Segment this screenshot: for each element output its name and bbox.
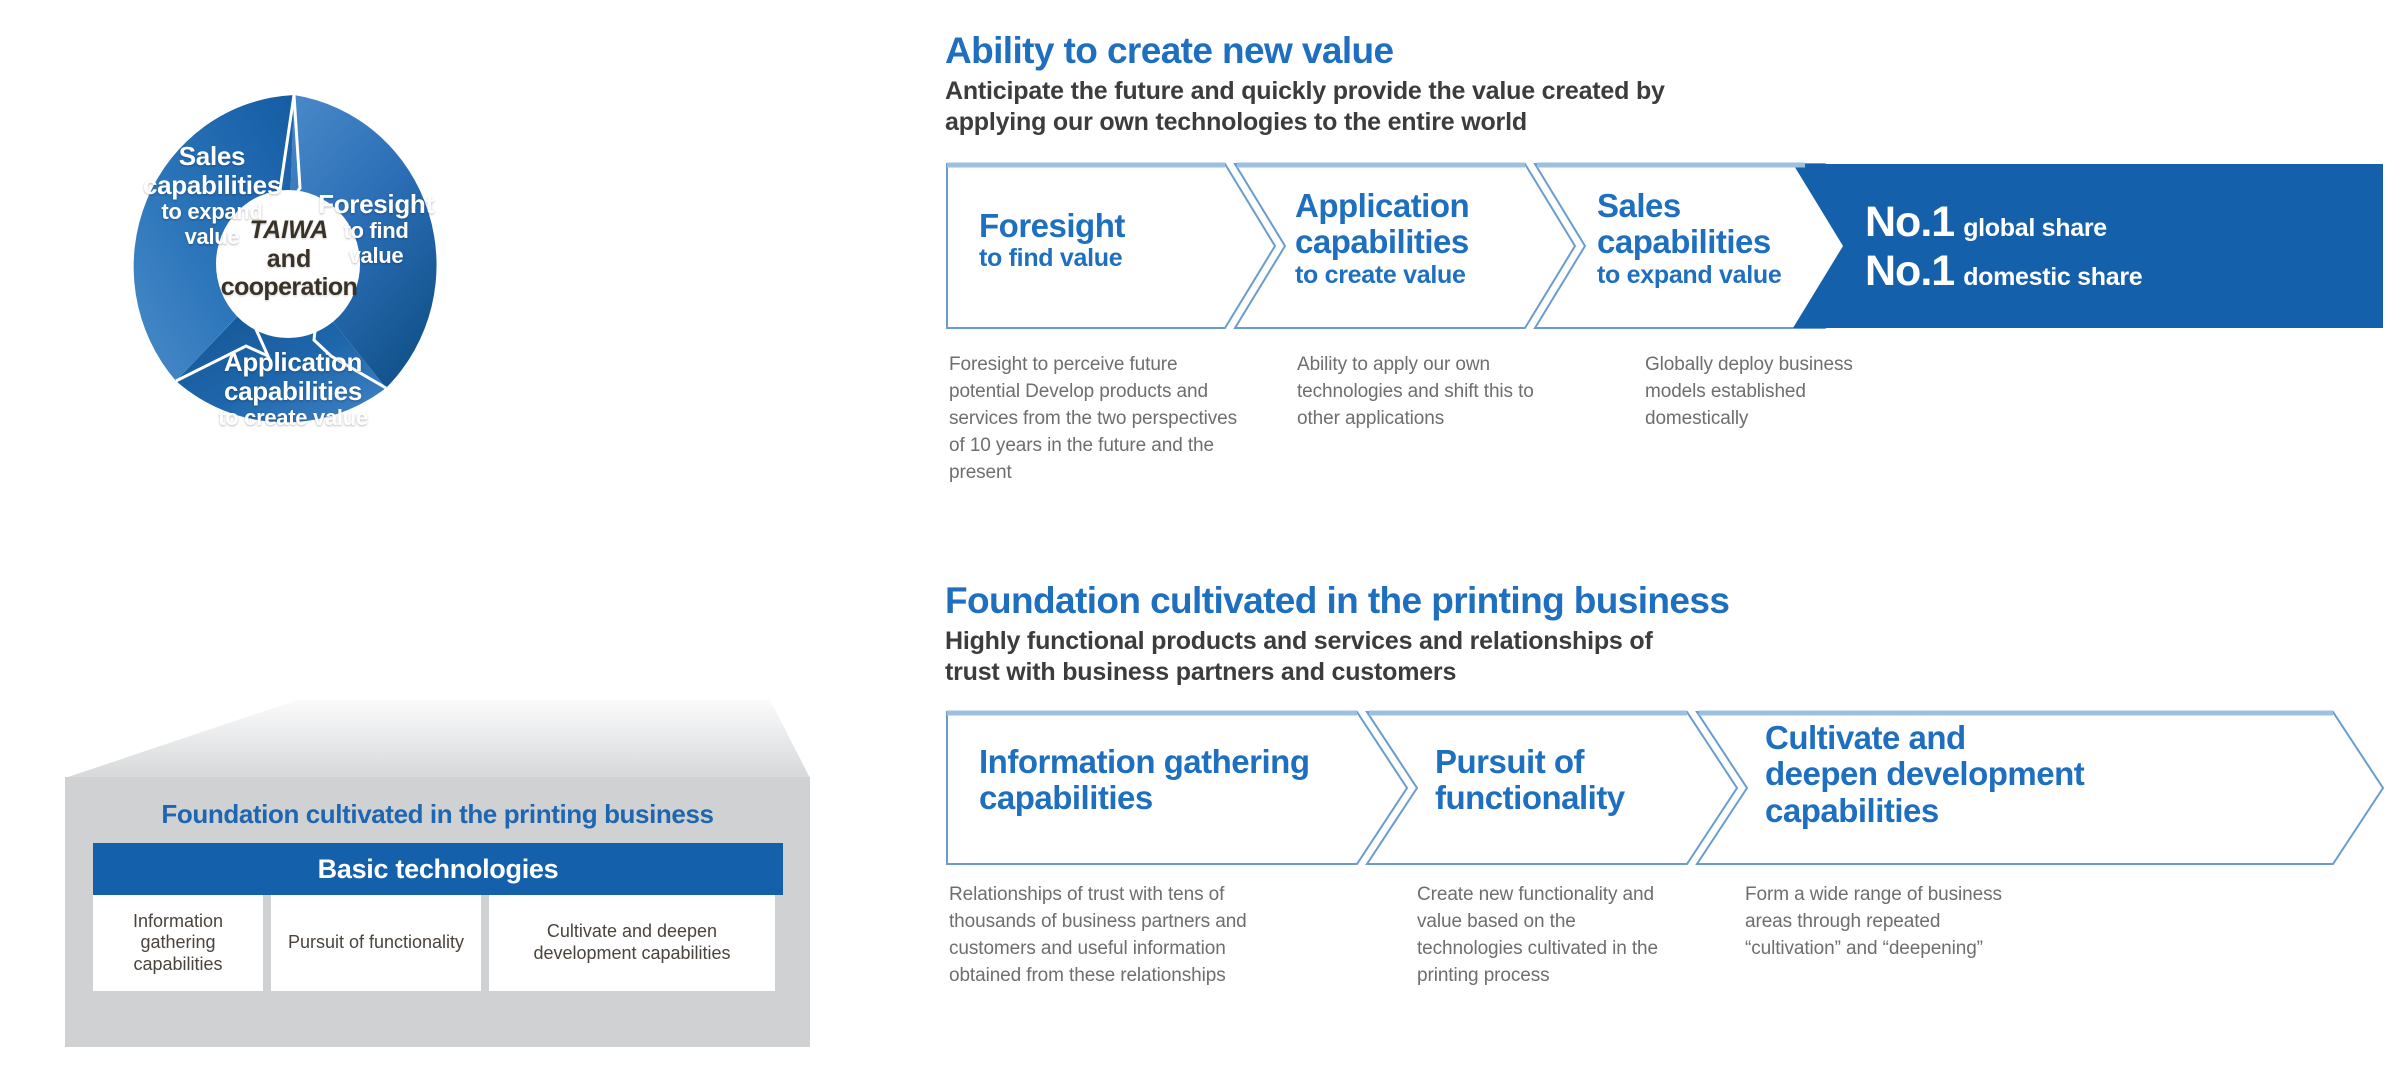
foundation-platform: Foundation cultivated in the printing bu…	[65, 777, 810, 1047]
tech-cell-information-gathering: Information gathering capabilities	[93, 895, 263, 991]
center-taiwa: TAIWA	[216, 216, 362, 245]
chevron-application-capabilities[interactable]	[1235, 164, 1575, 328]
caption-bottom-information: Relationships of trust with tens of thou…	[949, 882, 1249, 990]
donut-center-label: TAIWA and cooperation	[216, 216, 362, 302]
basic-technologies-bar: Basic technologies	[93, 843, 783, 895]
flow-row-bottom: Information gathering capabilities Pursu…	[945, 706, 2385, 866]
section-top-subtitle: Anticipate the future and quickly provid…	[945, 76, 2400, 138]
result-block-no1[interactable]	[1793, 164, 2383, 328]
tech-cell-cultivate-deepen: Cultivate and deepen development capabil…	[489, 895, 775, 991]
caption-top-application: Ability to apply our own technologies an…	[1297, 352, 1557, 433]
platform-top-face	[25, 700, 810, 780]
section-bottom-subtitle-line2: trust with business partners and custome…	[945, 658, 1456, 686]
center-cooperation: cooperation	[216, 273, 362, 302]
caption-row-bottom: Relationships of trust with tens of thou…	[945, 876, 2385, 996]
chevron-cultivate-and-deepen[interactable]	[1697, 712, 2383, 864]
caption-top-foresight: Foresight to perceive future potential D…	[949, 352, 1249, 487]
section-bottom-title: Foundation cultivated in the printing bu…	[945, 580, 2400, 622]
chevron-foresight[interactable]	[947, 164, 1275, 328]
section-ability-to-create-new-value: Ability to create new value Anticipate t…	[945, 30, 2400, 466]
chevron-pursuit-of-functionality[interactable]	[1367, 712, 1737, 864]
caption-row-top: Foresight to perceive future potential D…	[945, 346, 2385, 466]
section-top-subtitle-line2: applying our own technologies to the ent…	[945, 108, 1527, 136]
section-bottom-subtitle-line1: Highly functional products and services …	[945, 627, 1653, 655]
section-bottom-subtitle: Highly functional products and services …	[945, 626, 2400, 688]
section-foundation-printing-business: Foundation cultivated in the printing bu…	[945, 580, 2400, 996]
foundation-heading: Foundation cultivated in the printing bu…	[65, 799, 810, 830]
caption-bottom-cultivate: Form a wide range of business areas thro…	[1745, 882, 2035, 963]
cycle-panel: Sales capabilities to expand value Fores…	[0, 0, 820, 1068]
center-and: and	[216, 245, 362, 274]
flow-row-bottom-shapes	[945, 706, 2385, 866]
chevron-information-gathering[interactable]	[947, 712, 1407, 864]
caption-top-sales: Globally deploy business models establis…	[1645, 352, 1895, 433]
taiwa-donut-chart: Sales capabilities to expand value Fores…	[118, 88, 458, 438]
caption-bottom-pursuit: Create new functionality and value based…	[1417, 882, 1677, 990]
tech-cell-pursuit-of-functionality: Pursuit of functionality	[271, 895, 481, 991]
flow-row-top: Foresight to find value Application capa…	[945, 156, 2385, 336]
details-panel: Ability to create new value Anticipate t…	[945, 0, 2400, 1068]
basic-technologies-cells: Information gathering capabilities Pursu…	[93, 895, 783, 991]
flow-row-top-shapes	[945, 156, 2385, 336]
section-top-title: Ability to create new value	[945, 30, 2400, 72]
section-top-subtitle-line1: Anticipate the future and quickly provid…	[945, 77, 1665, 105]
